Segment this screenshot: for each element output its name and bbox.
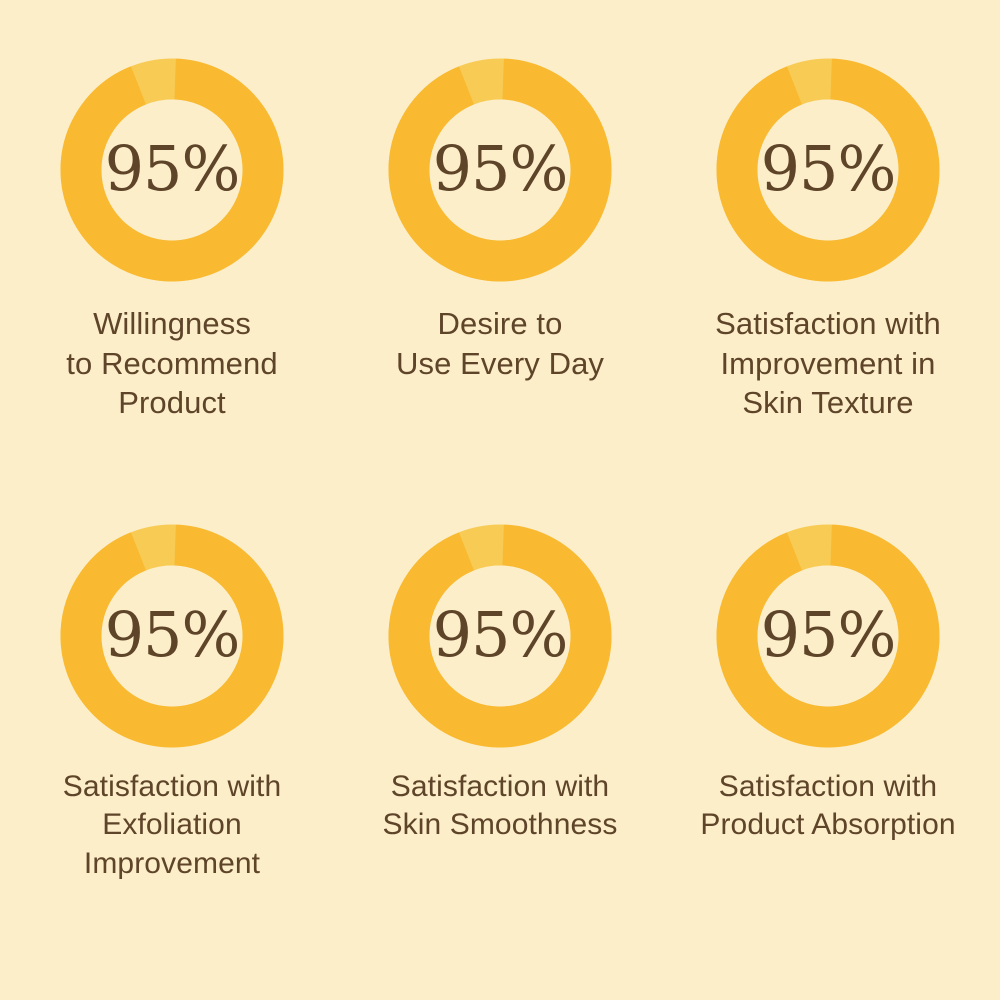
gauge-caption: Willingness to Recommend Product bbox=[66, 304, 277, 423]
donut-gauge: 95% bbox=[716, 58, 940, 282]
stat-cell: 95% Satisfaction with Product Absorption bbox=[664, 524, 992, 845]
gauge-value: 95% bbox=[60, 524, 284, 748]
donut-gauge: 95% bbox=[60, 58, 284, 282]
stat-cell: 95% Satisfaction with Skin Smoothness bbox=[336, 524, 664, 845]
donut-gauge: 95% bbox=[60, 524, 284, 748]
donut-gauge: 95% bbox=[716, 524, 940, 748]
stat-cell: 95% Satisfaction with Improvement in Ski… bbox=[664, 58, 992, 423]
gauge-value: 95% bbox=[60, 58, 284, 282]
stats-infographic: 95% Willingness to Recommend Product 95%… bbox=[0, 0, 1000, 1000]
gauge-value: 95% bbox=[716, 524, 940, 748]
gauge-caption: Desire to Use Every Day bbox=[396, 304, 604, 383]
stat-cell: 95% Satisfaction with Exfoliation Improv… bbox=[8, 524, 336, 883]
gauge-value: 95% bbox=[716, 58, 940, 282]
gauge-caption: Satisfaction with Skin Smoothness bbox=[383, 768, 618, 845]
gauge-value: 95% bbox=[388, 58, 612, 282]
gauge-caption: Satisfaction with Product Absorption bbox=[700, 768, 955, 845]
donut-gauge: 95% bbox=[388, 58, 612, 282]
gauge-caption: Satisfaction with Improvement in Skin Te… bbox=[715, 304, 941, 423]
stat-cell: 95% Desire to Use Every Day bbox=[336, 58, 664, 383]
donut-gauge: 95% bbox=[388, 524, 612, 748]
gauge-value: 95% bbox=[388, 524, 612, 748]
gauge-caption: Satisfaction with Exfoliation Improvemen… bbox=[63, 768, 281, 883]
stat-cell: 95% Willingness to Recommend Product bbox=[8, 58, 336, 423]
